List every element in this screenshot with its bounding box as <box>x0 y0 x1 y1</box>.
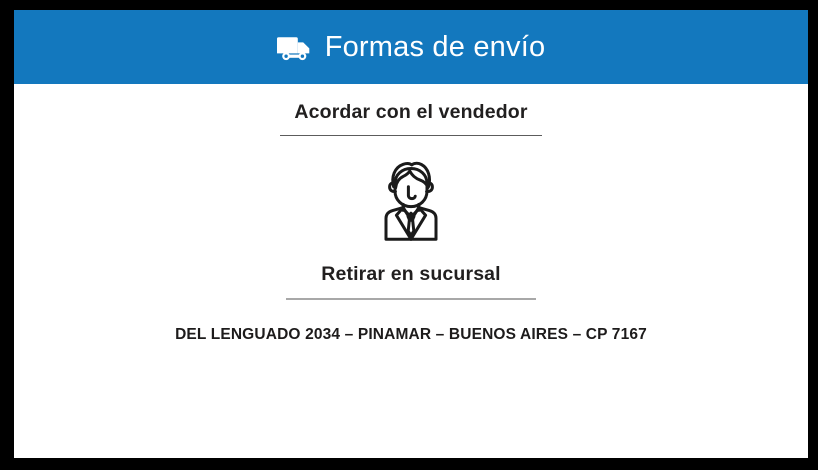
salesperson-icon <box>375 153 447 241</box>
section-retirar-en-sucursal: Retirar en sucursal <box>14 263 808 299</box>
divider-retirar <box>286 298 536 300</box>
shipping-info-card: Formas de envío Acordar con el vendedor <box>14 10 808 458</box>
card-header-title: Formas de envío <box>325 33 546 62</box>
card-header: Formas de envío <box>14 10 808 84</box>
shipping-truck-icon <box>277 34 311 62</box>
card-body: Acordar con el vendedor <box>14 84 808 458</box>
branch-address-block: DEL LENGUADO 2034 – PINAMAR – BUENOS AIR… <box>14 326 808 344</box>
section-acordar-con-el-vendedor: Acordar con el vendedor <box>14 101 808 136</box>
divider-acordar <box>280 135 542 136</box>
section-title-retirar: Retirar en sucursal <box>14 263 808 286</box>
screenshot-frame: Formas de envío Acordar con el vendedor <box>0 0 818 470</box>
branch-address: DEL LENGUADO 2034 – PINAMAR – BUENOS AIR… <box>14 326 808 344</box>
section-title-acordar: Acordar con el vendedor <box>14 101 808 124</box>
salesperson-illustration <box>14 153 808 241</box>
